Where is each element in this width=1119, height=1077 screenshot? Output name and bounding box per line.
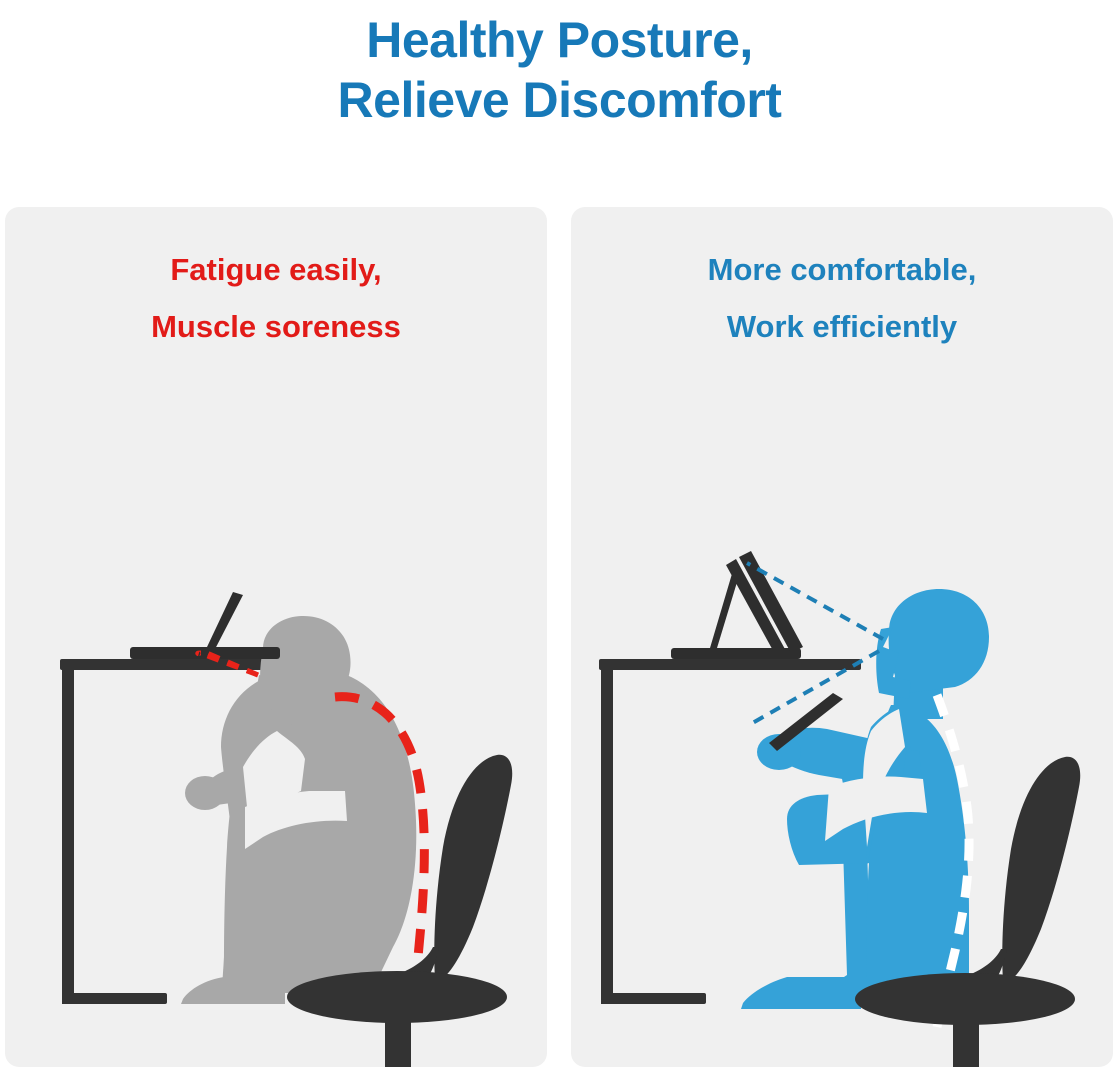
panel-good-posture: More comfortable, Work efficiently (571, 207, 1113, 1067)
comparison-panels: Fatigue easily, Muscle soreness (5, 207, 1114, 1067)
illustration-bad-posture (5, 207, 547, 1067)
page-title: Healthy Posture, Relieve Discomfort (0, 0, 1119, 130)
panel-bad-posture: Fatigue easily, Muscle soreness (5, 207, 547, 1067)
tablet-stand-good (671, 551, 803, 659)
page-title-line-2: Relieve Discomfort (0, 70, 1119, 130)
tablet-flat-bad (130, 647, 280, 659)
figure-hunched-grey (181, 616, 416, 1004)
page-title-line-1: Healthy Posture, (0, 10, 1119, 70)
stylus-bad (207, 592, 243, 653)
illustration-good-posture (571, 207, 1113, 1067)
